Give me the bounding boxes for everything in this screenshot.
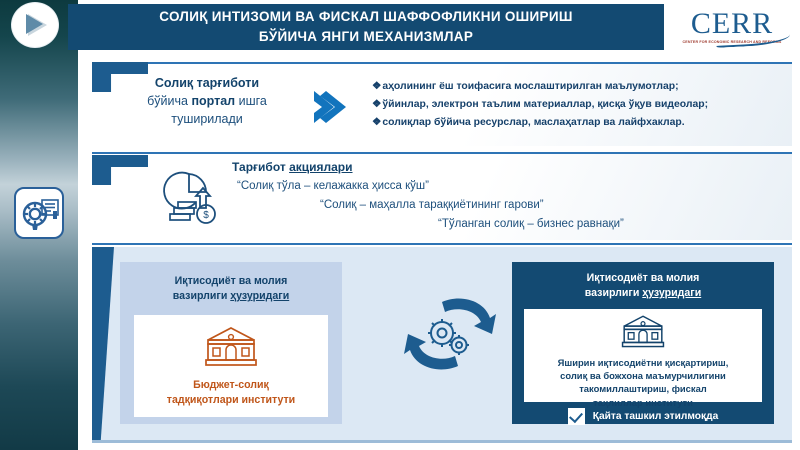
portal-statement-line2b: ишга — [235, 94, 267, 108]
portal-statement-line2a: бўйича — [147, 94, 191, 108]
slide-canvas: СОЛИҚ ИНТИЗОМИ ВА ФИСКАЛ ШАФФОФЛИКНИ ОШИ… — [0, 0, 800, 450]
svg-text:$: $ — [203, 210, 209, 221]
left-card-label-line1: Бюджет-солиқ — [167, 378, 295, 393]
reorganization-status[interactable]: Қайта ташкил этилмоқда — [512, 408, 774, 425]
chevron-right-icon — [308, 88, 352, 131]
list-item: ❖аҳолининг ёш тоифасига мослаштирилган м… — [372, 78, 784, 96]
left-card-heading: Иқтисодиёт ва молия вазирлиги ҳузуридаги — [120, 274, 342, 305]
left-card-heading-line1: Иқтисодиёт ва молия — [120, 274, 342, 289]
diamond-bullet-icon: ❖ — [372, 99, 381, 110]
right-card-heading-line2-underlined: ҳузуридаги — [642, 287, 701, 299]
section-1-top-rule — [92, 62, 792, 64]
section-3-top-rule — [92, 243, 792, 245]
left-card-heading-line2-plain: вазирлиги — [173, 290, 231, 302]
play-icon[interactable] — [12, 3, 58, 47]
right-card-body: Яширин иқтисодиётни қисқартириш, солиқ в… — [524, 309, 762, 402]
campaign-title-plain: Тарғибот — [232, 160, 289, 174]
right-institute-card[interactable]: Иқтисодиёт ва молия вазирлиги ҳузуридаги… — [512, 262, 774, 424]
right-card-heading: Иқтисодиёт ва молия вазирлиги ҳузуридаги — [512, 271, 774, 302]
institute-building-icon — [202, 324, 260, 373]
analytics-gear-glyph — [20, 194, 62, 236]
portal-features-list: ❖аҳолининг ёш тоифасига мослаштирилган м… — [372, 78, 784, 132]
left-card-body: Бюджет-солиқ тадқиқотлари институти — [134, 315, 328, 417]
page-title: СОЛИҚ ИНТИЗОМИ ВА ФИСКАЛ ШАФФОФЛИКНИ ОШИ… — [133, 7, 598, 46]
checkbox-checked-icon[interactable] — [568, 408, 585, 425]
coins-chart-icon: $ — [160, 168, 222, 231]
left-card-heading-line2-underlined: ҳузуридаги — [230, 290, 289, 302]
portal-statement: Солиқ тарғиботи бўйича портал ишга тушир… — [112, 74, 302, 128]
slogan-3: “Тўланган солиқ – бизнес равнақи” — [438, 218, 624, 230]
portal-statement-line1: Солиқ тарғиботи — [155, 76, 259, 90]
list-item-label: аҳолининг ёш тоифасига мослаштирилган ма… — [382, 81, 678, 92]
cerr-logo: CERR CENTER FOR ECONOMIC RESEARCH AND RE… — [670, 5, 794, 49]
left-card-label: Бюджет-солиқ тадқиқотлари институти — [167, 378, 295, 408]
list-item-label: солиқлар бўйича ресурслар, маслаҳатлар в… — [382, 117, 684, 128]
right-card-label-line3: такомиллаштириш, фискал — [558, 382, 729, 395]
left-card-heading-line2: вазирлиги ҳузуридаги — [120, 289, 342, 304]
header-bar: СОЛИҚ ИНТИЗОМИ ВА ФИСКАЛ ШАФФОФЛИКНИ ОШИ… — [68, 4, 664, 50]
bottom-strip — [92, 440, 792, 443]
page-title-line1: СОЛИҚ ИНТИЗОМИ ВА ФИСКАЛ ШАФФОФЛИКНИ ОШИ… — [159, 7, 572, 27]
analytics-gear-icon[interactable] — [14, 187, 64, 239]
right-card-label-line1: Яширин иқтисодиётни қисқартириш, — [558, 356, 729, 369]
play-triangle — [26, 14, 43, 34]
page-title-line2: БЎЙИЧА ЯНГИ МЕХАНИЗМЛАР — [159, 27, 572, 47]
left-card-label-line2: тадқиқотлари институти — [167, 393, 295, 408]
institute-building-icon — [618, 313, 668, 354]
diamond-bullet-icon: ❖ — [372, 117, 381, 128]
status-badge: Қайта ташкил этилмоқда — [593, 411, 719, 422]
right-card-label-line2: солиқ ва божхона маъмурчилигини — [558, 369, 729, 382]
list-item: ❖солиқлар бўйича ресурслар, маслаҳатлар … — [372, 114, 784, 132]
logo-swoosh — [716, 28, 791, 48]
portal-statement-emph: портал — [191, 94, 235, 108]
slogan-1: “Солиқ тўла – келажакка ҳисса кўш” — [237, 180, 429, 192]
slogan-2: “Солиқ – маҳалла тараққиётининг гарови” — [320, 199, 544, 211]
campaign-title-underlined: акциялари — [289, 160, 352, 174]
campaign-title: Тарғибот акциялари — [232, 160, 353, 174]
list-item-label: ўйинлар, электрон таълим материаллар, қи… — [382, 99, 708, 110]
recycle-gears-icon — [398, 288, 502, 385]
diamond-bullet-icon: ❖ — [372, 81, 381, 92]
right-card-heading-line2-plain: вазирлиги — [585, 287, 643, 299]
right-card-label: Яширин иқтисодиётни қисқартириш, солиқ в… — [558, 356, 729, 409]
portal-statement-line3: туширилади — [171, 112, 243, 126]
right-card-heading-line2: вазирлиги ҳузуридаги — [512, 286, 774, 301]
list-item: ❖ўйинлар, электрон таълим материаллар, қ… — [372, 96, 784, 114]
right-card-heading-line1: Иқтисодиёт ва молия — [512, 271, 774, 286]
left-institute-card[interactable]: Иқтисодиёт ва молия вазирлиги ҳузуридаги… — [120, 262, 342, 424]
